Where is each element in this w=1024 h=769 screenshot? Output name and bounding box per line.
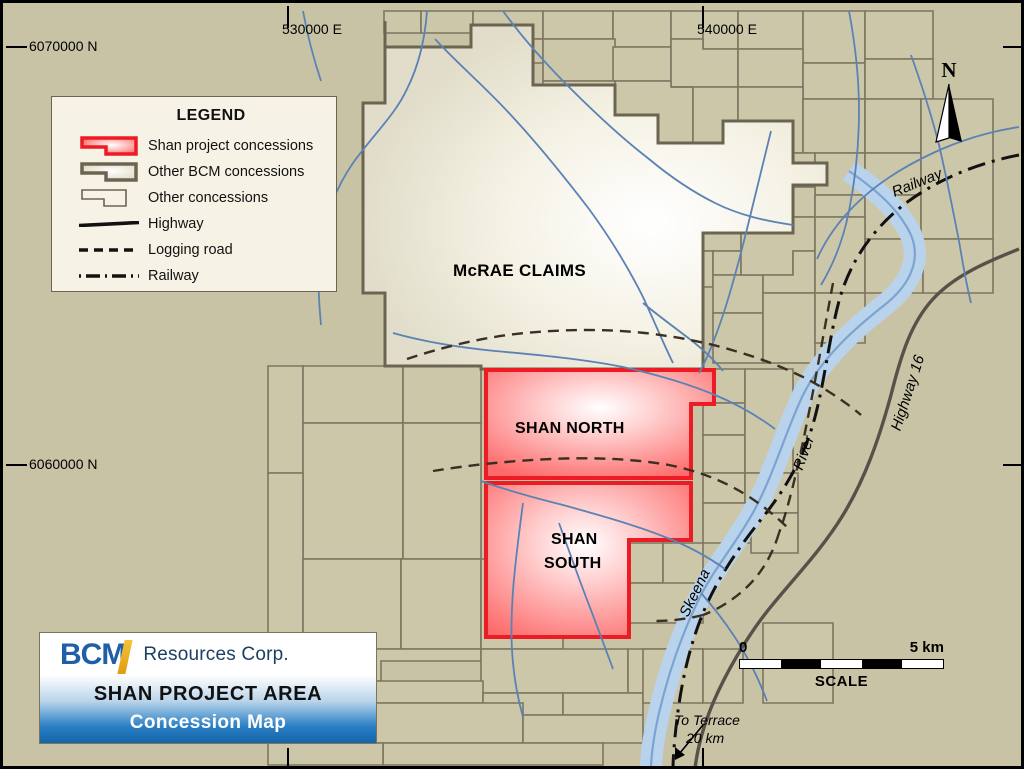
- legend-item-label: Logging road: [148, 242, 233, 258]
- north-arrow: N: [928, 58, 970, 143]
- grid-label-northing-top: 6070000 N: [29, 38, 98, 54]
- area-label-shan-south-line2: SOUTH: [544, 555, 602, 573]
- legend-item-other-concessions[interactable]: Other concessions: [70, 185, 336, 211]
- scale-bar-segment: [902, 660, 943, 668]
- scale-bar-caption: SCALE: [739, 673, 944, 690]
- legend-item-logging-road[interactable]: Logging road: [70, 237, 336, 263]
- line-dashdot-icon: [78, 273, 140, 279]
- title-block: BCM Resources Corp. SHAN PROJECT AREA Co…: [39, 632, 377, 744]
- title-block-line2: Concession Map: [40, 712, 376, 734]
- scale-bar-segment: [740, 660, 781, 668]
- concession-map: McRAE CLAIMS SHAN NORTH SHAN SOUTH Railw…: [0, 0, 1024, 769]
- legend-item-label: Railway: [148, 268, 199, 284]
- area-label-shan-north: SHAN NORTH: [515, 420, 625, 438]
- area-label-mcrae-claims: McRAE CLAIMS: [453, 261, 586, 281]
- polygon-plain-icon: [80, 188, 138, 208]
- polygon-grey-icon: [80, 162, 138, 182]
- scale-bar-segment: [781, 660, 822, 668]
- legend-title: LEGEND: [86, 107, 336, 125]
- scale-bar-segment: [862, 660, 903, 668]
- scale-bar-segment: [821, 660, 862, 668]
- legend-item-label: Other concessions: [148, 190, 268, 206]
- legend-item-railway[interactable]: Railway: [70, 263, 336, 289]
- bcm-logo-text: BCM: [60, 638, 125, 671]
- north-arrow-glyph: [928, 82, 970, 144]
- legend-swatch-cell: [70, 237, 142, 263]
- legend-swatch-cell: [70, 263, 142, 289]
- legend-item-label: Other BCM concessions: [148, 164, 304, 180]
- direction-label-distance: 20 km: [686, 730, 724, 746]
- area-label-shan-south-line1: SHAN: [551, 531, 598, 549]
- legend-item-label: Highway: [148, 216, 204, 232]
- legend-swatch-cell: [70, 159, 142, 185]
- brand-name: Resources Corp.: [143, 644, 289, 666]
- legend-item-highway[interactable]: Highway: [70, 211, 336, 237]
- legend-item-other-bcm[interactable]: Other BCM concessions: [70, 159, 336, 185]
- legend-item-shan-project[interactable]: Shan project concessions: [70, 133, 336, 159]
- legend-swatch-cell: [70, 185, 142, 211]
- grid-label-northing-mid: 6060000 N: [29, 456, 98, 472]
- title-block-line1: SHAN PROJECT AREA: [40, 683, 376, 706]
- grid-label-easting-right: 540000 E: [697, 21, 757, 37]
- legend-swatch-cell: [70, 211, 142, 237]
- bcm-logo: BCM: [60, 638, 125, 672]
- legend-panel: LEGEND Shan project concessions Other BC…: [51, 96, 337, 292]
- north-arrow-letter: N: [928, 58, 970, 83]
- line-solid-icon: [78, 221, 140, 227]
- scale-bar: 0 5 km SCALE: [739, 639, 944, 690]
- scale-bar-min-label: 0: [739, 639, 747, 656]
- grid-label-easting-left: 530000 E: [282, 21, 342, 37]
- scale-bar-max-label: 5 km: [910, 639, 944, 656]
- legend-item-label: Shan project concessions: [148, 138, 313, 154]
- polygon-red-icon: [80, 136, 138, 156]
- brand-row: BCM Resources Corp.: [40, 633, 376, 677]
- direction-label-to-terrace: To Terrace: [674, 712, 740, 728]
- legend-swatch-cell: [70, 133, 142, 159]
- scale-bar-graphic: [739, 659, 944, 669]
- line-dashed-icon: [78, 247, 140, 253]
